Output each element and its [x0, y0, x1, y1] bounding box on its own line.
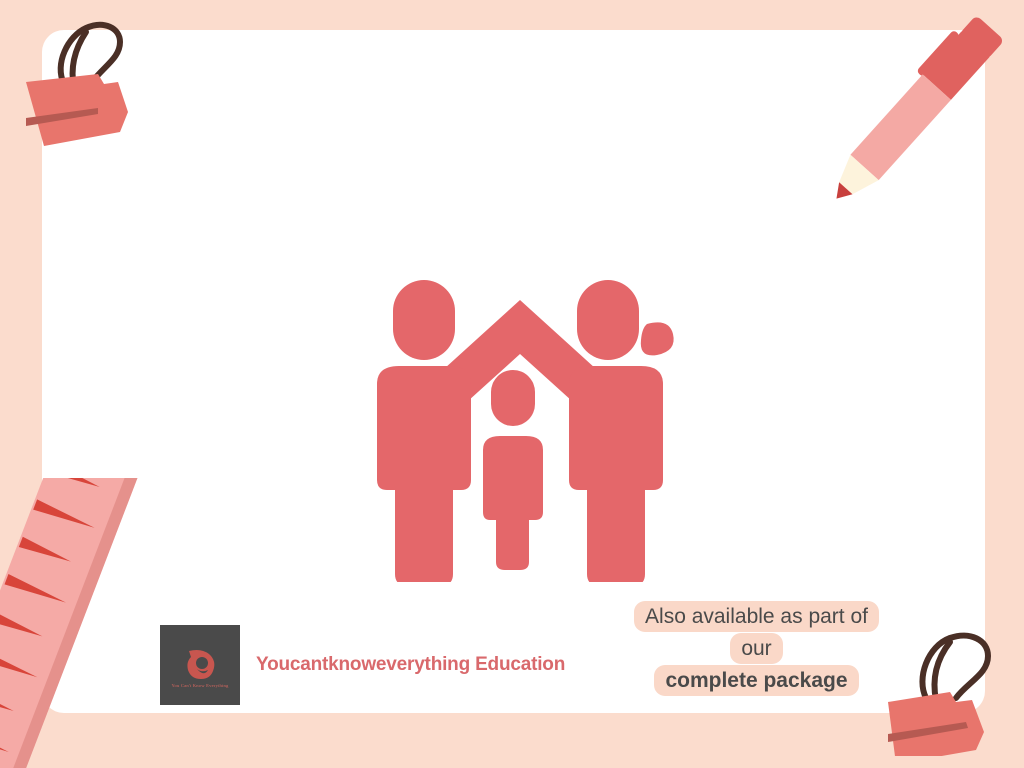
footer-brand-label: Youcantknoweverything Education [256, 654, 565, 676]
binder-clip-top-left-icon [8, 6, 168, 156]
footer-brand-row: You Can't Know Everything Youcantknoweve… [160, 625, 565, 705]
logo-emblem-icon [183, 647, 217, 681]
ruler-bottom-left-icon [0, 478, 182, 768]
pencil-top-right-icon [804, 0, 1024, 229]
family-under-roof-icon [355, 272, 685, 582]
binder-clip-bottom-right-icon [864, 606, 1014, 756]
